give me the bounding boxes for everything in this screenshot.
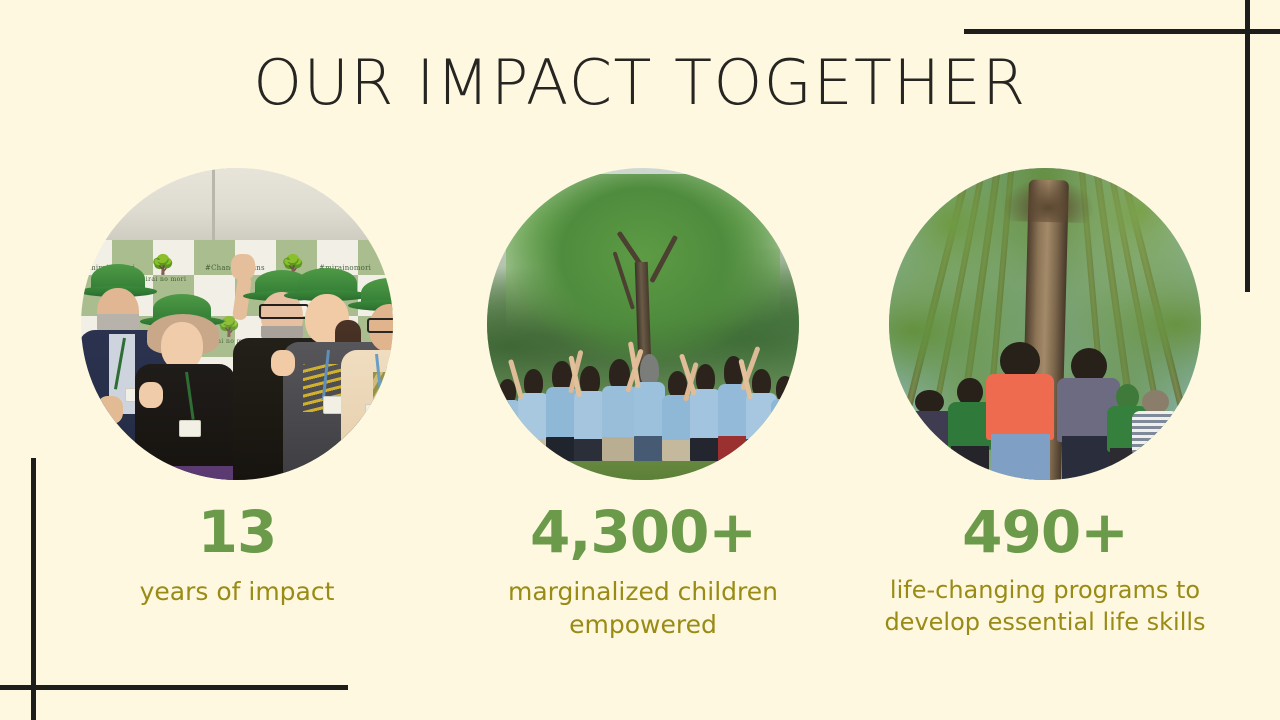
- name-badge: [365, 404, 389, 424]
- person-2: [139, 294, 231, 480]
- top-right-horizontal-rule: [964, 29, 1280, 34]
- stat-number: 4,300+: [443, 503, 843, 561]
- top-right-vertical-rule: [1245, 0, 1250, 292]
- child-figure: [574, 366, 605, 461]
- crowd-of-children: [487, 336, 799, 461]
- bottom-left-vertical-rule: [31, 458, 36, 720]
- stat-caption: life-changing programs to develop essent…: [845, 575, 1245, 639]
- stat-caption-line: years of impact: [37, 575, 437, 608]
- stat-column-1: 🌳 mirai no mori 🌳 mirai no mori 🌳 mirai …: [37, 160, 437, 608]
- stat-column-3: 490+ life-changing programs to develop e…: [845, 160, 1245, 639]
- bottom-left-horizontal-rule: [0, 685, 348, 690]
- child-figure: [690, 364, 721, 461]
- ceiling: [81, 168, 393, 240]
- photo-forest-trunk: [889, 168, 1201, 480]
- photo-children-tree: [487, 168, 799, 480]
- child-figure: [905, 386, 955, 480]
- glasses-icon: [367, 318, 393, 333]
- stat-caption: marginalized children empowered: [443, 575, 843, 642]
- stat-caption-line: empowered: [443, 608, 843, 641]
- raised-fist: [139, 382, 163, 408]
- child-figure: [518, 369, 549, 461]
- child-figure: [602, 359, 636, 461]
- stat-number: 13: [37, 503, 437, 561]
- child-figure: [634, 354, 665, 461]
- stat-number: 490+: [845, 503, 1245, 561]
- raised-fist: [271, 350, 295, 376]
- name-badge: [179, 420, 201, 437]
- skirt: [135, 466, 235, 480]
- child-figure: [771, 376, 799, 461]
- stat-caption: years of impact: [37, 575, 437, 608]
- child-figure: [1132, 386, 1179, 480]
- face: [161, 322, 203, 370]
- raised-fist: [97, 396, 123, 424]
- child-figure: [986, 336, 1055, 480]
- stat-column-2: 4,300+ marginalized children empowered: [443, 160, 843, 642]
- photo-group-hats: 🌳 mirai no mori 🌳 mirai no mori 🌳 mirai …: [81, 168, 393, 480]
- page-title: OUR IMPACT TOGETHER: [0, 52, 1280, 114]
- stat-caption-line: develop essential life skills: [845, 607, 1245, 639]
- person-5: [347, 278, 393, 480]
- stat-caption-line: life-changing programs to: [845, 575, 1245, 607]
- slide-canvas: OUR IMPACT TOGETHER 🌳 mirai no mori 🌳 mi…: [0, 0, 1280, 720]
- stat-caption-line: marginalized children: [443, 575, 843, 608]
